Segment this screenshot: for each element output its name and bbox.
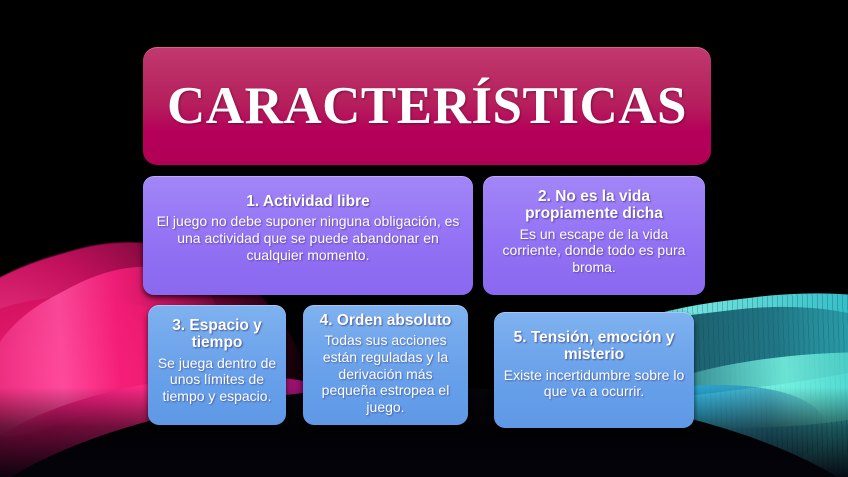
slide-content: CARACTERÍSTICAS 1. Actividad libre El ju… [0, 0, 848, 477]
slide-title-banner: CARACTERÍSTICAS [143, 47, 711, 165]
card-1-title: 1. Actividad libre [152, 193, 464, 210]
card-1-body: El juego no debe suponer ninguna obligac… [152, 213, 464, 263]
card-3-body: Se juega dentro de unos límites de tiemp… [157, 355, 277, 405]
characteristic-card-4: 4. Orden absoluto Todas sus acciones est… [303, 305, 468, 425]
card-4-title: 4. Orden absoluto [312, 312, 459, 329]
card-4-body: Todas sus acciones están reguladas y la … [312, 332, 459, 415]
characteristic-card-5: 5. Tensión, emoción y misterio Existe in… [494, 312, 694, 428]
card-5-title: 5. Tensión, emoción y misterio [503, 329, 685, 364]
card-2-title: 2. No es la vida propiamente dicha [492, 188, 696, 223]
slide-canvas: CARACTERÍSTICAS 1. Actividad libre El ju… [0, 0, 848, 477]
card-5-body: Existe incertidumbre sobre lo que va a o… [503, 367, 685, 400]
characteristic-card-3: 3. Espacio y tiempo Se juega dentro de u… [148, 305, 286, 425]
characteristic-card-2: 2. No es la vida propiamente dicha Es un… [483, 176, 705, 295]
characteristic-card-1: 1. Actividad libre El juego no debe supo… [143, 176, 473, 295]
card-3-title: 3. Espacio y tiempo [157, 317, 277, 352]
card-2-body: Es un escape de la vida corriente, donde… [492, 226, 696, 276]
page-title: CARACTERÍSTICAS [167, 76, 687, 136]
